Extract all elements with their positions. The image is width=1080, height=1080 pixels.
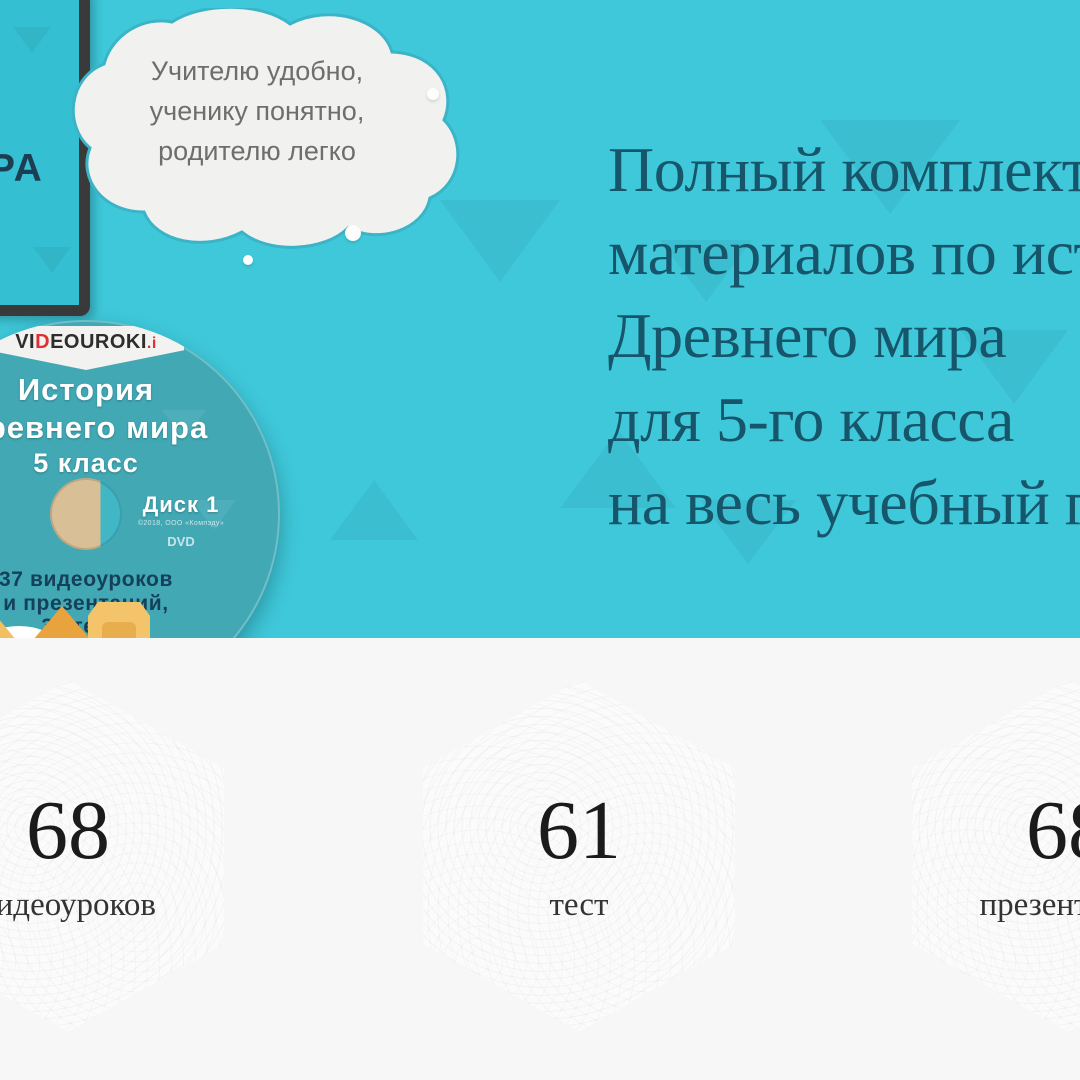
speech-line-3: родителю легко bbox=[92, 132, 422, 172]
dvd-case-title: РА bbox=[0, 147, 44, 191]
egypt-scene bbox=[0, 590, 280, 638]
stat-caption: презентаций bbox=[979, 887, 1080, 924]
headline-line-5: на весь учебный год bbox=[608, 461, 1080, 544]
dvd-disc: VIDEOUROKI.i История Древнего мира 5 кла… bbox=[0, 320, 280, 638]
stat-number: 68 bbox=[1026, 789, 1080, 873]
disc-stats-line1: 37 видеоуроков bbox=[0, 568, 280, 592]
stat-hexagon: 61 тест bbox=[423, 680, 735, 1032]
stat-hexagon: 68 видеоуроков bbox=[0, 680, 224, 1032]
videouroki-logo: VIDEOUROKI.i bbox=[15, 331, 157, 354]
sphinx-face bbox=[102, 622, 136, 638]
headline-line-2: материалов по истории bbox=[608, 211, 1080, 294]
decor-triangle bbox=[13, 27, 51, 53]
disc-title-line1: История bbox=[0, 372, 280, 408]
bubble-trail-dot bbox=[243, 255, 253, 265]
speech-bubble-text: Учителю удобно, ученику понятно, родител… bbox=[92, 52, 422, 172]
speech-line-2: ученику понятно, bbox=[92, 92, 422, 132]
disc-center-hub bbox=[50, 478, 122, 550]
stat-number: 61 bbox=[537, 789, 621, 873]
dvd-format-icon: DVD bbox=[148, 534, 214, 549]
stat-caption: видеоуроков bbox=[0, 887, 156, 924]
headline-line-4: для 5-го класса bbox=[608, 378, 1080, 461]
stats-section: 68 видеоуроков 61 тест 68 презентаций bbox=[0, 638, 1080, 1080]
hero-banner: РА VIDEOUROKI.i История Древнего мира 5 … bbox=[0, 0, 1080, 638]
disc-fine-print: ©2018, ООО «Компэду» bbox=[106, 520, 256, 527]
disc-number-label: Диск 1 bbox=[106, 492, 256, 518]
stat-number: 68 bbox=[26, 789, 110, 873]
bubble-trail-dot bbox=[427, 88, 439, 100]
stat-caption: тест bbox=[550, 887, 609, 924]
bubble-trail-dot bbox=[345, 225, 361, 241]
decor-triangle bbox=[330, 480, 418, 540]
disc-title-line2: Древнего мира bbox=[0, 410, 280, 446]
hero-headline: Полный комплект материалов по истории Др… bbox=[608, 128, 1080, 544]
headline-line-3: Древнего мира bbox=[608, 294, 1080, 377]
stat-hexagon: 68 презентаций bbox=[912, 680, 1080, 1032]
speech-line-1: Учителю удобно, bbox=[92, 52, 422, 92]
headline-line-1: Полный комплект bbox=[608, 128, 1080, 211]
videouroki-logo-plate: VIDEOUROKI.i bbox=[0, 326, 184, 370]
disc-grade: 5 класс bbox=[0, 448, 280, 479]
